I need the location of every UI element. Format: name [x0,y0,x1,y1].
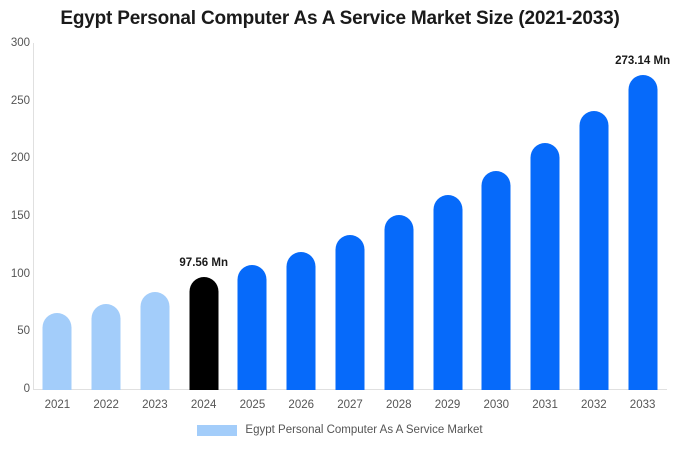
bar-2025[interactable] [238,265,267,390]
x-axis-tick-2032: 2032 [569,399,618,411]
x-axis-tick-2026: 2026 [277,399,326,411]
bar-2026[interactable] [287,252,316,390]
y-axis-tick: 100 [4,268,30,280]
bar-slot[interactable] [569,0,618,450]
bar-slot[interactable] [618,0,667,450]
bar-slot[interactable] [277,0,326,450]
bar-2030[interactable] [482,171,511,390]
y-axis-tick: 0 [4,383,30,395]
bar-series: 202120222023202497.56 Mn2025202620272028… [33,0,667,450]
bar-2032[interactable] [579,111,608,390]
bar-2024[interactable] [189,277,218,390]
bar-slot[interactable] [521,0,570,450]
bar-2031[interactable] [531,143,560,390]
chart-legend: Egypt Personal Computer As A Service Mar… [0,424,680,436]
data-label-2033: 273.14 Mn [615,55,670,67]
bar-2029[interactable] [433,195,462,390]
data-label-2024: 97.56 Mn [179,257,228,269]
bar-2028[interactable] [384,215,413,390]
x-axis-tick-2030: 2030 [472,399,521,411]
legend-label: Egypt Personal Computer As A Service Mar… [245,424,482,436]
bar-2027[interactable] [335,235,364,390]
x-axis-tick-2033: 2033 [618,399,667,411]
x-axis-tick-2028: 2028 [374,399,423,411]
x-axis-tick-2024: 2024 [179,399,228,411]
chart-container: Egypt Personal Computer As A Service Mar… [0,0,680,450]
legend-swatch [197,425,237,436]
x-axis-tick-2021: 2021 [33,399,82,411]
bar-slot[interactable] [374,0,423,450]
bar-slot[interactable] [131,0,180,450]
bar-slot[interactable] [228,0,277,450]
bar-slot[interactable] [82,0,131,450]
x-axis-tick-2029: 2029 [423,399,472,411]
bar-2021[interactable] [43,313,72,390]
bar-slot[interactable] [179,0,228,450]
bar-2022[interactable] [92,304,121,391]
y-axis-tick-labels: 050100150200250300 [0,0,30,450]
bar-2033[interactable] [628,75,657,390]
x-axis-tick-2027: 2027 [326,399,375,411]
y-axis-tick: 250 [4,95,30,107]
x-axis-tick-2025: 2025 [228,399,277,411]
bar-2023[interactable] [140,292,169,390]
y-axis-tick: 200 [4,152,30,164]
x-axis-tick-2022: 2022 [82,399,131,411]
bar-slot[interactable] [33,0,82,450]
y-axis-tick: 150 [4,210,30,222]
y-axis-tick: 50 [4,325,30,337]
bar-slot[interactable] [423,0,472,450]
bar-slot[interactable] [326,0,375,450]
x-axis-tick-2023: 2023 [131,399,180,411]
x-axis-tick-2031: 2031 [521,399,570,411]
y-axis-tick: 300 [4,37,30,49]
bar-slot[interactable] [472,0,521,450]
